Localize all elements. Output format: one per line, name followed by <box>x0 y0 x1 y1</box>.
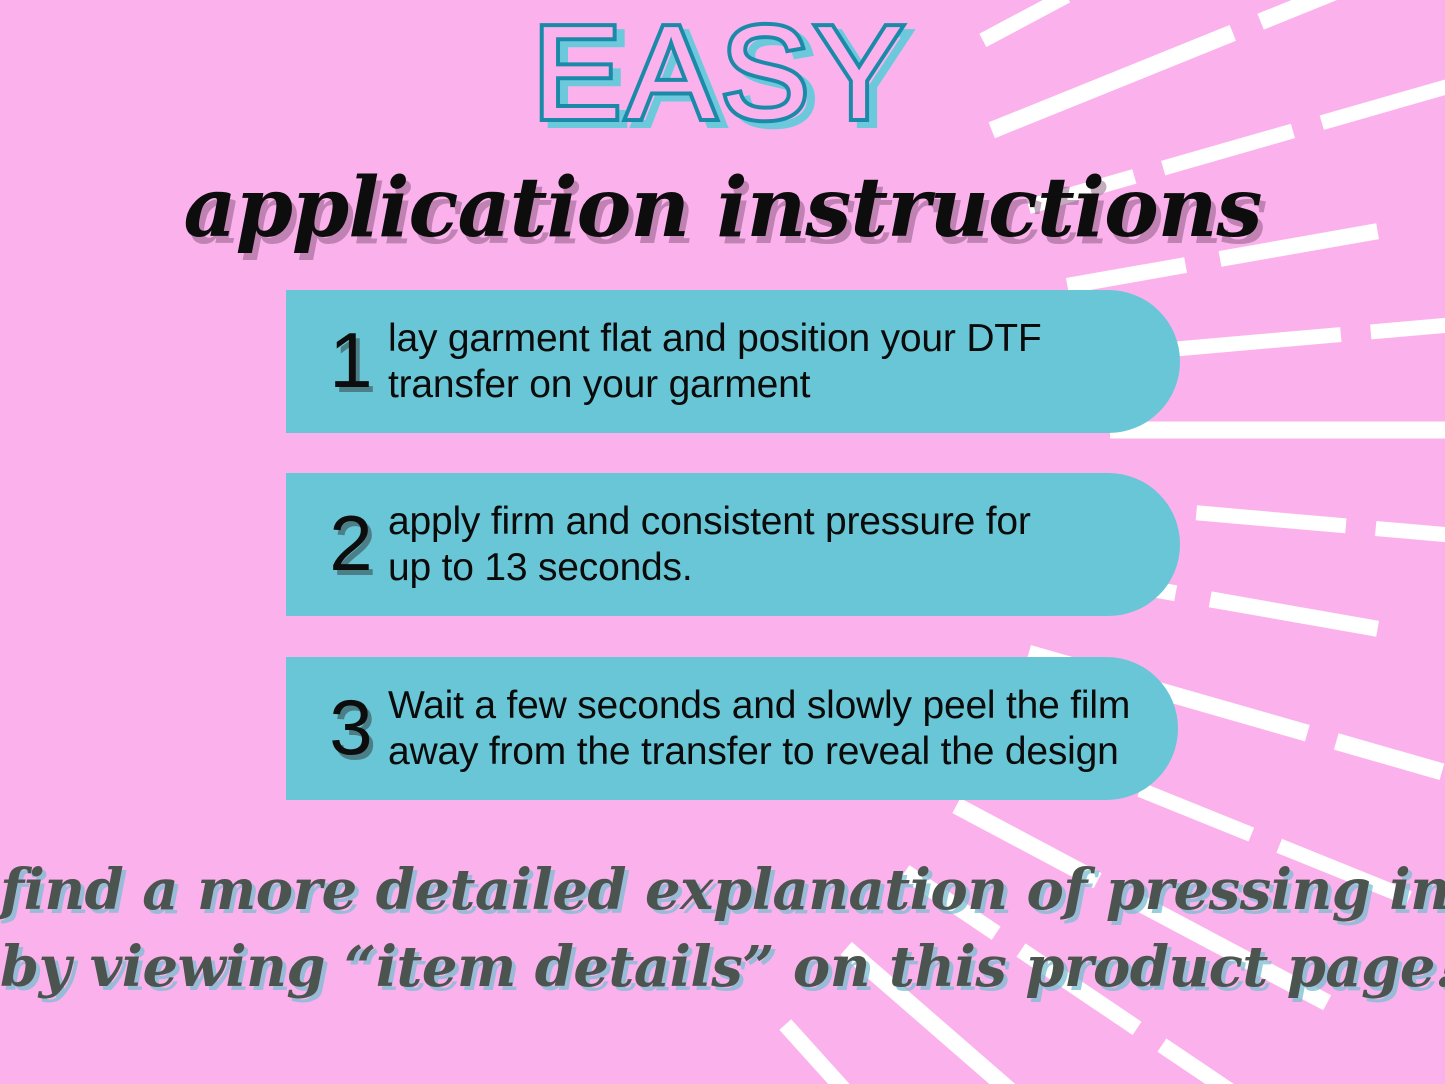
step-pill-3: 3 Wait a few seconds and slowly peel the… <box>286 657 1178 800</box>
step-number-2: 2 <box>314 504 388 582</box>
footer-line-1: find a more detailed explanation of pres… <box>0 852 1445 929</box>
easy-headline: EASY EASY EASY <box>0 12 1445 162</box>
step-text-1-line-2: transfer on your garment <box>388 362 1180 408</box>
step-text-1-line-1: lay garment flat and position your DTF <box>388 316 1180 362</box>
footer-line-2: by viewing “item details” on this produc… <box>0 929 1445 1006</box>
step-text-3-line-1: Wait a few seconds and slowly peel the f… <box>388 683 1178 729</box>
application-instructions-poster: EASY EASY EASY application instructions … <box>0 0 1445 1084</box>
step-number-3: 3 <box>314 688 388 766</box>
step-text-2: apply firm and consistent pressure for u… <box>388 499 1180 590</box>
step-number-1: 1 <box>314 321 388 399</box>
step-text-1: lay garment flat and position your DTF t… <box>388 316 1180 407</box>
easy-headline-fill-layer: EASY <box>532 12 908 146</box>
footer-note: find a more detailed explanation of pres… <box>0 852 1445 1007</box>
step-text-3: Wait a few seconds and slowly peel the f… <box>388 683 1178 774</box>
step-text-2-line-1: apply firm and consistent pressure for <box>388 499 1180 545</box>
step-text-2-line-2: up to 13 seconds. <box>388 545 1180 591</box>
step-pill-2: 2 apply firm and consistent pressure for… <box>286 473 1180 616</box>
step-pill-1: 1 lay garment flat and position your DTF… <box>286 290 1180 433</box>
subtitle-application-instructions: application instructions <box>0 160 1445 256</box>
step-text-3-line-2: away from the transfer to reveal the des… <box>388 729 1178 775</box>
easy-headline-svg: EASY EASY EASY <box>513 12 933 152</box>
